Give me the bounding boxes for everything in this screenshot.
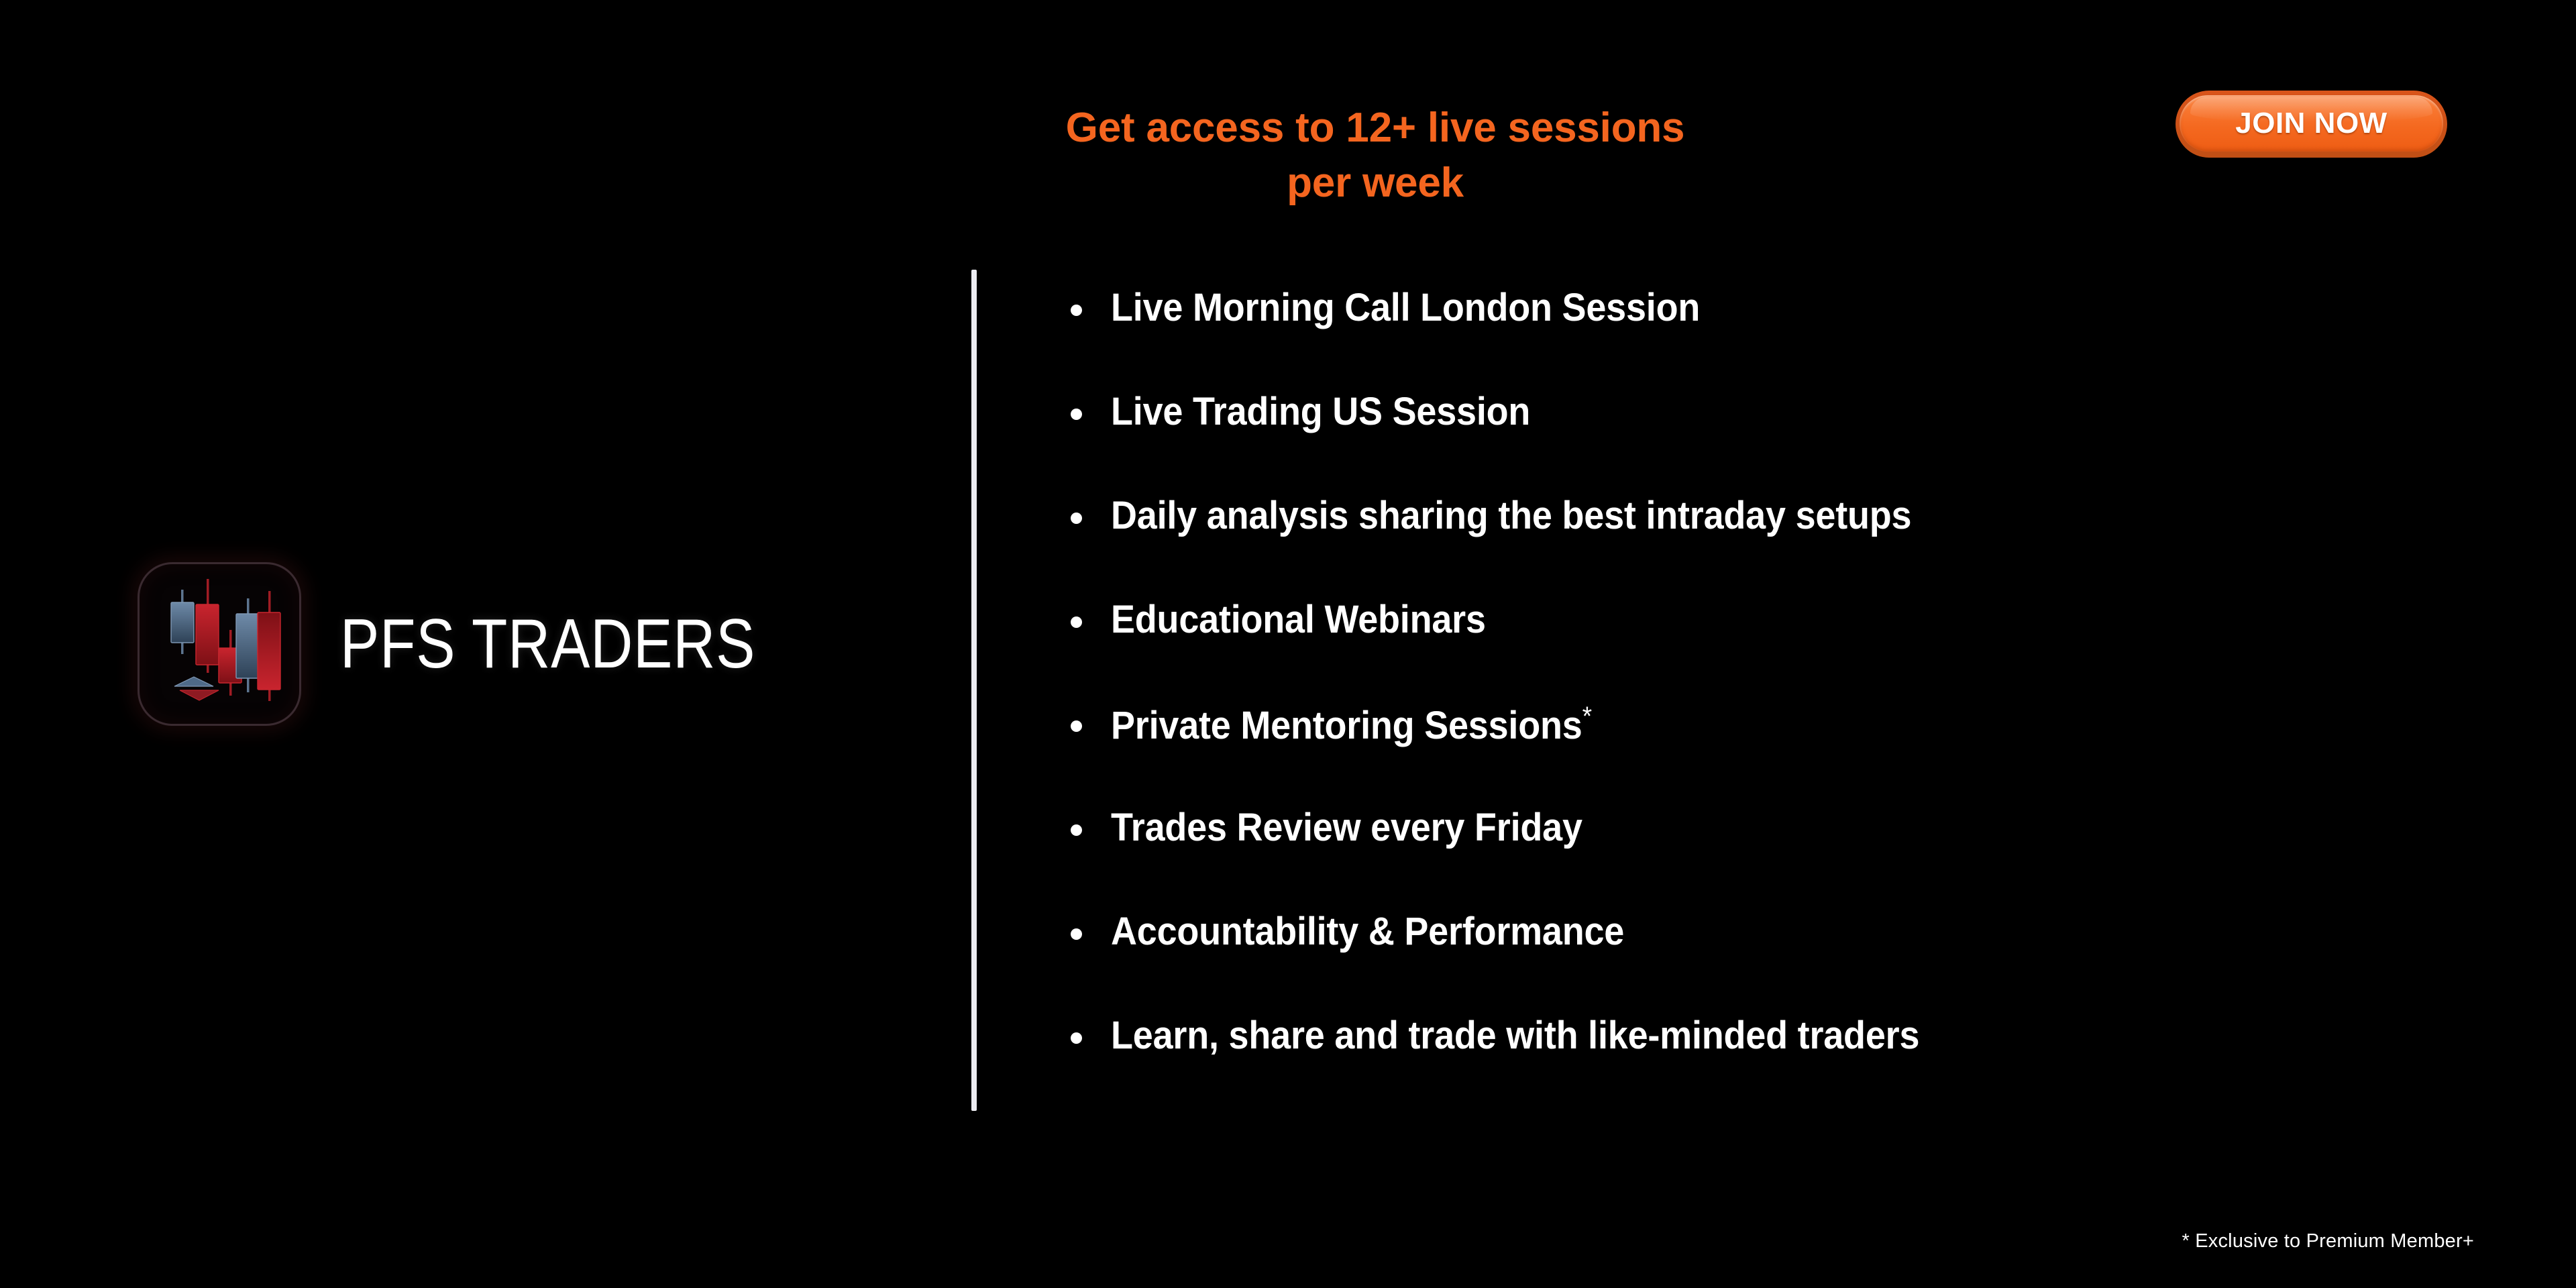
logo-candle-2 [196,579,219,673]
bullet-dot-icon [1071,824,1082,836]
logo-candle-5 [258,591,280,701]
logo-candle-1 [171,590,194,654]
vertical-divider [971,270,977,1111]
bullet-dot-icon [1071,409,1082,420]
bullet-dot-icon [1071,305,1082,316]
logo-triangle-up-icon [174,677,213,686]
benefit-label: Daily analysis sharing the best intraday… [1111,493,1911,539]
bullet-dot-icon [1071,720,1082,732]
bullet-dot-icon [1071,616,1082,628]
benefits-list: Live Morning Call London Session Live Tr… [1071,285,2479,1117]
asterisk-marker: * [1582,702,1592,731]
brand-lockup: PFS TRADERS [138,562,835,726]
bullet-dot-icon [1071,513,1082,524]
benefit-label: Learn, share and trade with like-minded … [1111,1013,1919,1059]
benefit-label: Educational Webinars [1111,597,1486,643]
benefit-label: Trades Review every Friday [1111,805,1582,851]
benefit-label: Live Morning Call London Session [1111,285,1700,331]
brand-name: PFS TRADERS [340,609,755,679]
logo-candle-4 [236,598,259,692]
list-item: Private Mentoring Sessions* [1071,701,2479,805]
bullet-dot-icon [1071,928,1082,940]
list-item: Accountability & Performance [1071,909,2479,1013]
bullet-dot-icon [1071,1032,1082,1044]
logo-triangle-down-icon [180,690,219,700]
list-item: Educational Webinars [1071,597,2479,701]
benefit-label: Live Trading US Session [1111,389,1530,435]
list-item: Daily analysis sharing the best intraday… [1071,493,2479,597]
join-now-button-face: JOIN NOW [2180,95,2443,152]
list-item: Trades Review every Friday [1071,805,2479,909]
benefit-label: Accountability & Performance [1111,909,1624,955]
join-now-label: JOIN NOW [2235,107,2387,140]
list-item: Live Trading US Session [1071,389,2479,493]
benefit-label-starred: Private Mentoring Sessions* [1111,701,1592,749]
footnote: * Exclusive to Premium Member+ [2182,1230,2475,1252]
list-item: Live Morning Call London Session [1071,285,2479,389]
list-item: Learn, share and trade with like-minded … [1071,1013,2479,1117]
headline-line-2: per week [1040,156,1711,211]
candlestick-chart-icon [138,562,301,726]
join-now-button[interactable]: JOIN NOW [2176,91,2447,158]
headline: Get access to 12+ live sessions per week [1040,101,1711,211]
headline-line-1: Get access to 12+ live sessions [1040,101,1711,156]
